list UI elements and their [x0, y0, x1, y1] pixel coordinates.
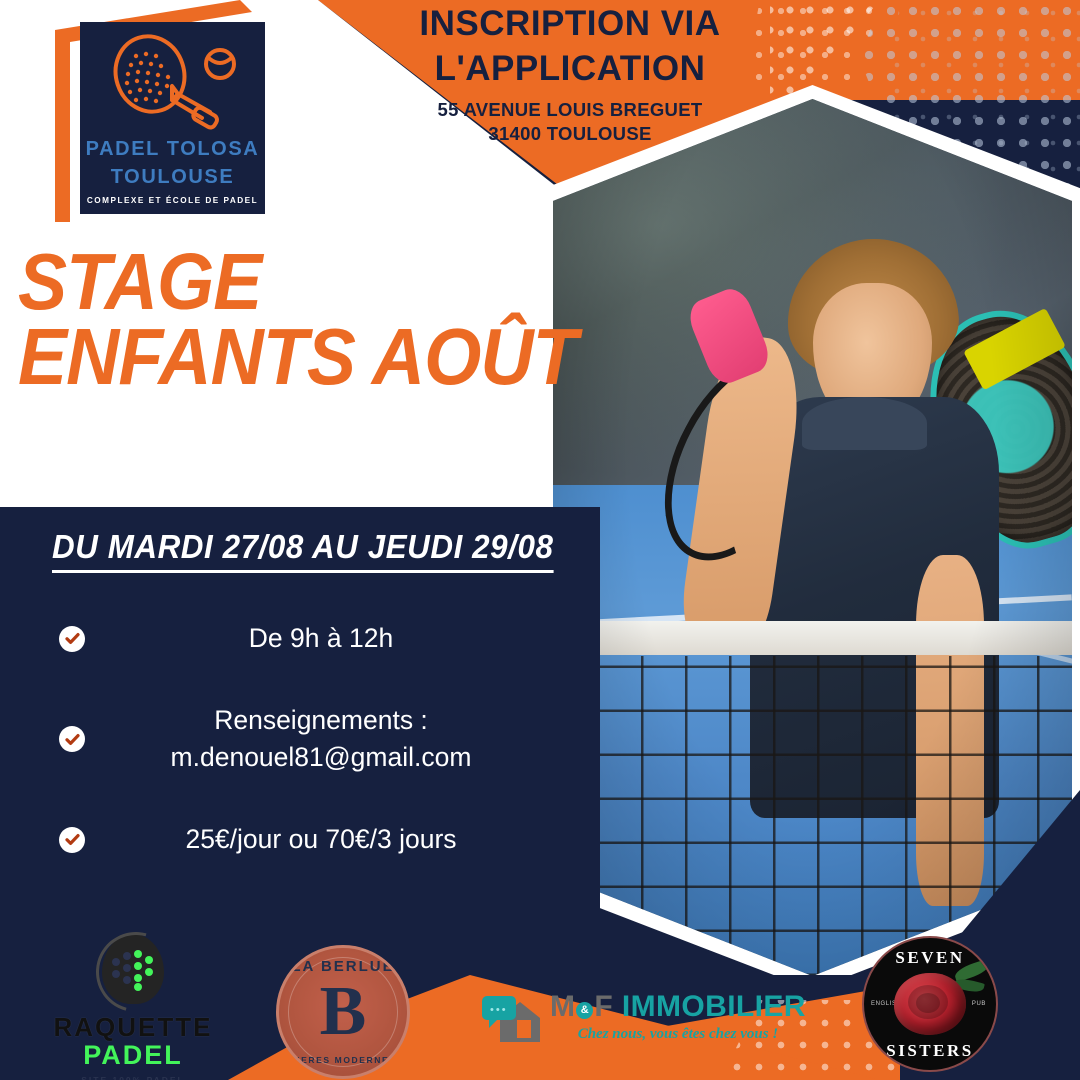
- details-list: De 9h à 12h Renseignements : m.denouel81…: [45, 620, 575, 859]
- header-line-1: INSCRIPTION VIA: [360, 2, 780, 47]
- check-circle-icon: [59, 726, 85, 752]
- check-circle-icon: [59, 626, 85, 652]
- photo-vignette: [553, 99, 1072, 976]
- page-title: STAGE ENFANTS AOÛT: [18, 244, 577, 394]
- sponsor-mf-amp: &: [576, 1002, 593, 1019]
- header-registration-block: INSCRIPTION VIA L'APPLICATION 55 AVENUE …: [360, 2, 780, 146]
- event-date-range: DU MARDI 27/08 AU JEUDI 29/08: [52, 528, 553, 573]
- padel-kid-photo: [553, 99, 1072, 976]
- header-address-line-2: 31400 TOULOUSE: [360, 122, 780, 146]
- list-item-label: 25€/jour ou 70€/3 jours: [85, 821, 575, 859]
- sponsor-mf-m: M: [550, 990, 575, 1023]
- sponsor-berlue-bottom-text: BIERES MODERNES: [279, 1055, 407, 1065]
- sponsor-la-berlue[interactable]: LA BERLUE B BIERES MODERNES: [276, 945, 404, 1073]
- sponsor-raquette-line-1: RAQUETTE: [38, 1014, 228, 1040]
- sponsor-berlue-monogram: B: [320, 977, 367, 1047]
- check-circle-icon: [59, 827, 85, 853]
- rose-badge-icon: SEVEN ENGLISH PUB SISTERS: [862, 936, 998, 1072]
- list-item: 25€/jour ou 70€/3 jours: [45, 821, 575, 859]
- page-title-line-2: ENFANTS AOÛT: [18, 319, 577, 394]
- header-line-2: L'APPLICATION: [360, 47, 780, 92]
- sponsor-mf-name: M&F IMMOBILIER: [550, 992, 806, 1022]
- sponsor-mf-f: F: [594, 990, 613, 1023]
- sponsor-mf-immobilier[interactable]: ••• M&F IMMOBILIER Chez nous, vous êtes …: [482, 992, 772, 1064]
- header-address-line-1: 55 AVENUE LOUIS BREGUET: [360, 98, 780, 122]
- sponsor-mf-tagline: Chez nous, vous êtes chez vous !: [550, 1026, 806, 1043]
- sponsor-raquette-line-2: PADEL: [38, 1042, 228, 1069]
- list-item: De 9h à 12h: [45, 620, 575, 658]
- sponsor-raquette-tagline: SITE 100% PADEL: [38, 1075, 228, 1080]
- sponsor-seven-sisters[interactable]: SEVEN ENGLISH PUB SISTERS: [862, 936, 994, 1068]
- brand-logo-name-line-2: TOULOUSE: [111, 166, 235, 190]
- list-item-label: Renseignements : m.denouel81@gmail.com: [85, 702, 575, 777]
- beer-badge-icon: LA BERLUE B BIERES MODERNES: [276, 945, 410, 1079]
- brand-logo: PADEL TOLOSA TOULOUSE COMPLEXE ET ÉCOLE …: [80, 22, 265, 214]
- list-item-label: De 9h à 12h: [85, 620, 575, 658]
- sponsor-seven-bottom-text: SISTERS: [864, 1041, 996, 1061]
- padel-racket-and-ball-icon: [98, 34, 248, 134]
- poster-canvas: INSCRIPTION VIA L'APPLICATION 55 AVENUE …: [0, 0, 1080, 1080]
- contact-label: Renseignements :: [85, 702, 557, 740]
- padel-racket-dots-icon: [94, 930, 172, 1008]
- sponsor-mf-main: IMMOBILIER: [622, 990, 806, 1023]
- sponsor-raquette-padel[interactable]: RAQUETTE PADEL SITE 100% PADEL: [38, 930, 228, 1075]
- list-item: Renseignements : m.denouel81@gmail.com: [45, 702, 575, 777]
- sponsor-seven-right-text: PUB: [972, 1001, 986, 1007]
- page-title-line-1: STAGE: [18, 244, 577, 319]
- contact-email[interactable]: m.denouel81@gmail.com: [85, 739, 557, 777]
- brand-logo-tagline: COMPLEXE ET ÉCOLE DE PADEL: [87, 196, 258, 205]
- house-speech-bubble-icon: •••: [482, 996, 550, 1046]
- brand-logo-name-line-1: PADEL TOLOSA: [86, 138, 260, 162]
